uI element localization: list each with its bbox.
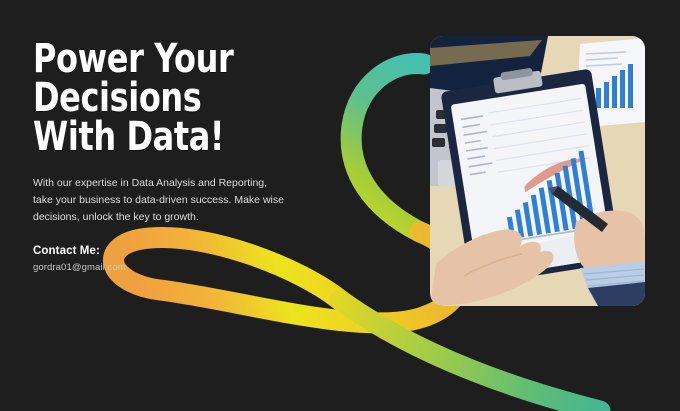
contact-block: Contact Me: gordra01@gmail.com bbox=[33, 245, 126, 273]
promo-banner: Power Your Decisions With Data! With our… bbox=[0, 0, 680, 411]
hero-description: With our expertise in Data Analysis and … bbox=[33, 156, 311, 226]
contact-email[interactable]: gordra01@gmail.com bbox=[33, 257, 126, 273]
business-analytics-photo bbox=[430, 36, 645, 306]
hero-copy: Power Your Decisions With Data! With our… bbox=[33, 40, 383, 226]
contact-label: Contact Me: bbox=[33, 245, 126, 257]
page-title: Power Your Decisions With Data! bbox=[33, 40, 383, 156]
photo-illustration bbox=[430, 36, 645, 306]
